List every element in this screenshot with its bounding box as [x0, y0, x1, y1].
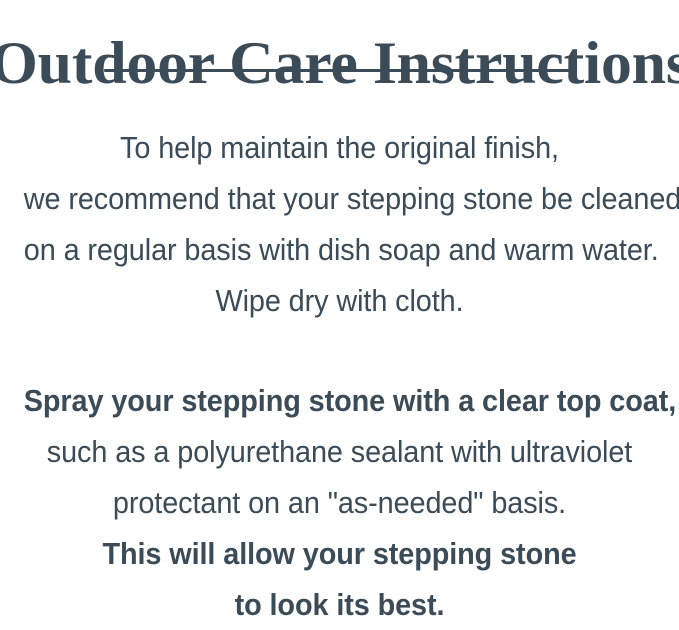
page-title: Outdoor Care Instructions: [0, 29, 679, 97]
sealant-paragraph-line-2: such as a polyurethane sealant with ultr…: [24, 426, 655, 477]
sealant-paragraph-line-3: protectant on an "as-needed" basis.: [24, 477, 655, 528]
care-paragraph-line-3: on a regular basis with dish soap and wa…: [24, 224, 655, 275]
care-paragraph-line-1: To help maintain the original finish,: [24, 122, 655, 173]
sealant-paragraph-line-5: to look its best.: [24, 579, 655, 630]
care-paragraph-line-4: Wipe dry with cloth.: [24, 275, 655, 326]
sealant-paragraph: Spray your stepping stone with a clear t…: [0, 375, 679, 630]
care-instructions-card: Outdoor Care Instructions To help mainta…: [0, 0, 679, 613]
title-divider: [104, 69, 575, 72]
care-paragraph-line-2: we recommend that your stepping stone be…: [24, 173, 655, 224]
sealant-paragraph-line-4: This will allow your stepping stone: [24, 528, 655, 579]
care-paragraph: To help maintain the original finish, we…: [0, 122, 679, 326]
sealant-paragraph-line-1: Spray your stepping stone with a clear t…: [24, 375, 655, 426]
